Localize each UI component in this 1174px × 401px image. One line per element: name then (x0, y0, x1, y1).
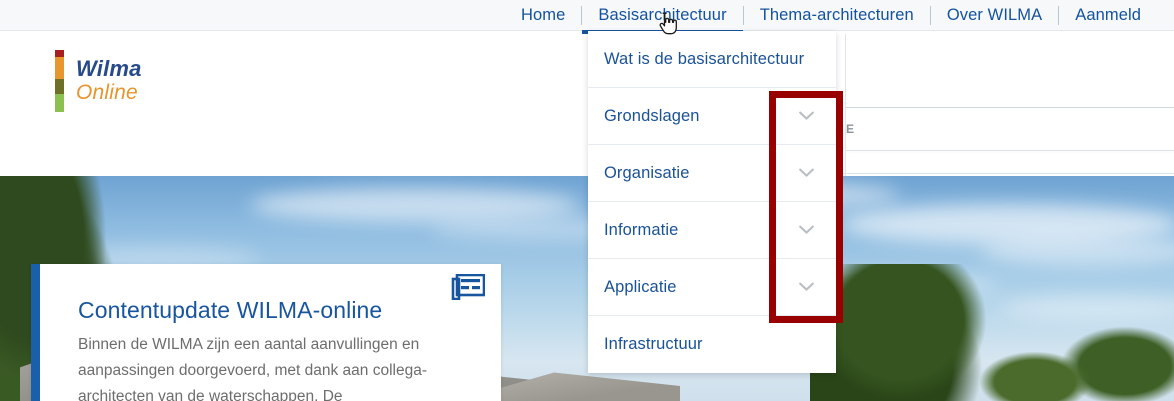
logo-wordmark: Wilma Online (76, 48, 142, 105)
dropdown-item-label: Organisatie (588, 164, 689, 183)
site-header: Wilma Online E (0, 31, 1174, 176)
chevron-down-icon[interactable] (799, 111, 814, 121)
dropdown-item-label: Informatie (588, 221, 678, 240)
logo-color-bar-icon (55, 50, 64, 112)
logo-text-online: Online (76, 81, 138, 104)
dropdown-item-wat-is-de-basisarchitectuur[interactable]: Wat is de basisarchitectuur (588, 31, 836, 88)
main-navigation: Home Basisarchitectuur Thema-architectur… (505, 0, 1157, 31)
panel-divider (846, 107, 1174, 108)
browser-viewport: Wilma Online E Contentupdate WILMA-onlin… (0, 0, 1174, 401)
nav-item-thema-architecturen[interactable]: Thema-architecturen (744, 0, 930, 31)
dropdown-item-informatie[interactable]: Informatie (588, 202, 836, 259)
dropdown-item-applicatie[interactable]: Applicatie (588, 259, 836, 316)
dropdown-item-label: Applicatie (588, 278, 677, 297)
nav-item-home[interactable]: Home (505, 0, 581, 31)
dropdown-item-grondslagen[interactable]: Grondslagen (588, 88, 836, 145)
nav-item-aanmelden[interactable]: Aanmeld (1059, 0, 1157, 31)
dropdown-item-label: Grondslagen (588, 107, 700, 126)
dropdown-item-organisatie[interactable]: Organisatie (588, 145, 836, 202)
nav-item-basisarchitectuur[interactable]: Basisarchitectuur (582, 0, 742, 31)
cloud-shape (980, 236, 1174, 266)
card-title: Contentupdate WILMA-online (78, 297, 382, 324)
card-accent-bar (31, 264, 40, 401)
header-right-panel: E (845, 34, 1174, 176)
dropdown-item-label: Wat is de basisarchitectuur (588, 50, 804, 69)
news-card[interactable]: Contentupdate WILMA-online Binnen de WIL… (31, 264, 501, 401)
chevron-down-icon[interactable] (799, 225, 814, 235)
chevron-down-icon[interactable] (799, 168, 814, 178)
cloud-shape (250, 188, 580, 222)
dropdown-menu-basisarchitectuur: Wat is de basisarchitectuur Grondslagen … (588, 31, 836, 373)
panel-divider (846, 150, 1174, 151)
site-logo[interactable]: Wilma Online (55, 48, 142, 112)
panel-divider (826, 173, 1174, 174)
nav-item-over-wilma[interactable]: Over WILMA (931, 0, 1058, 31)
dropdown-item-label: Infrastructuur (588, 335, 703, 354)
dropdown-item-infrastructuur[interactable]: Infrastructuur (588, 316, 836, 373)
article-layout-icon (451, 274, 485, 300)
cloud-shape (1000, 296, 1174, 320)
card-body-text: Binnen de WILMA zijn een aantal aanvulli… (78, 332, 490, 401)
chevron-down-icon[interactable] (799, 282, 814, 292)
panel-obscured-text: E (846, 122, 856, 136)
logo-text-wilma: Wilma (76, 56, 142, 81)
